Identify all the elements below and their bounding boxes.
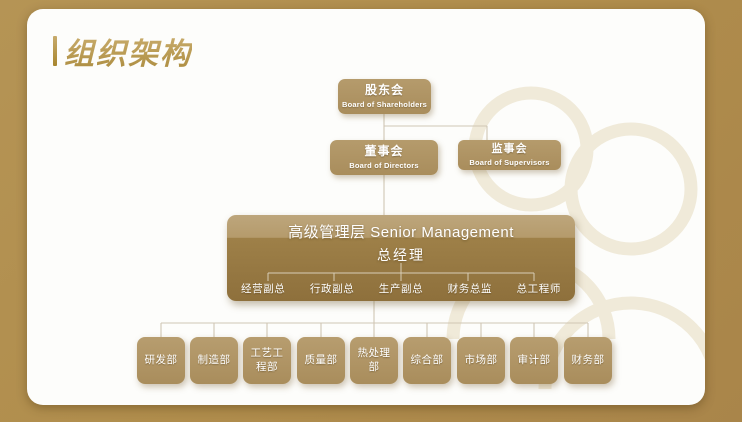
node-title-en: Board of Directors — [349, 162, 418, 171]
dept-box-audit[interactable]: 审计部 — [510, 337, 558, 384]
dept-box-heat-treatment[interactable]: 热处理 部 — [350, 337, 398, 384]
node-title-cn: 监事会 — [492, 143, 528, 156]
dept-box-quality[interactable]: 质量部 — [297, 337, 345, 384]
page-title-text: 组织架构 — [64, 29, 192, 73]
node-board-of-supervisors[interactable]: 监事会 Board of Supervisors — [458, 140, 561, 170]
node-board-of-shareholders[interactable]: 股东会 Board of Shareholders — [338, 79, 431, 114]
dept-box-general-affairs[interactable]: 综合部 — [403, 337, 451, 384]
senior-management-block[interactable]: 高级管理层 Senior Management 总经理 经营副总 — [227, 215, 575, 301]
dept-box-manufacturing[interactable]: 制造部 — [190, 337, 238, 384]
page-title: 组织架构 — [53, 29, 192, 73]
dept-box-finance[interactable]: 财务部 — [564, 337, 612, 384]
role-item[interactable]: 总工程师 — [517, 281, 561, 296]
content-card: 股东会 Board of Shareholders 董事会 Board of D… — [27, 9, 705, 405]
role-item[interactable]: 经营副总 — [241, 281, 285, 296]
node-title-en: Board of Shareholders — [342, 101, 427, 110]
node-title-cn: 股东会 — [365, 84, 404, 98]
title-accent-bar — [53, 36, 57, 66]
role-item[interactable]: 财务总监 — [448, 281, 492, 296]
role-list: 经营副总 行政副总 生产副总 财务总监 总工程师 — [241, 281, 561, 296]
dept-box-marketing[interactable]: 市场部 — [457, 337, 505, 384]
role-item[interactable]: 生产副总 — [379, 281, 423, 296]
dept-box-rd[interactable]: 研发部 — [137, 337, 185, 384]
node-board-of-directors[interactable]: 董事会 Board of Directors — [330, 140, 438, 175]
node-title-cn: 董事会 — [364, 145, 403, 159]
slide-canvas: 股东会 Board of Shareholders 董事会 Board of D… — [0, 0, 742, 422]
dept-box-process-engineering[interactable]: 工艺工 程部 — [243, 337, 291, 384]
role-item[interactable]: 行政副总 — [310, 281, 354, 296]
node-title-en: Board of Supervisors — [469, 159, 549, 168]
